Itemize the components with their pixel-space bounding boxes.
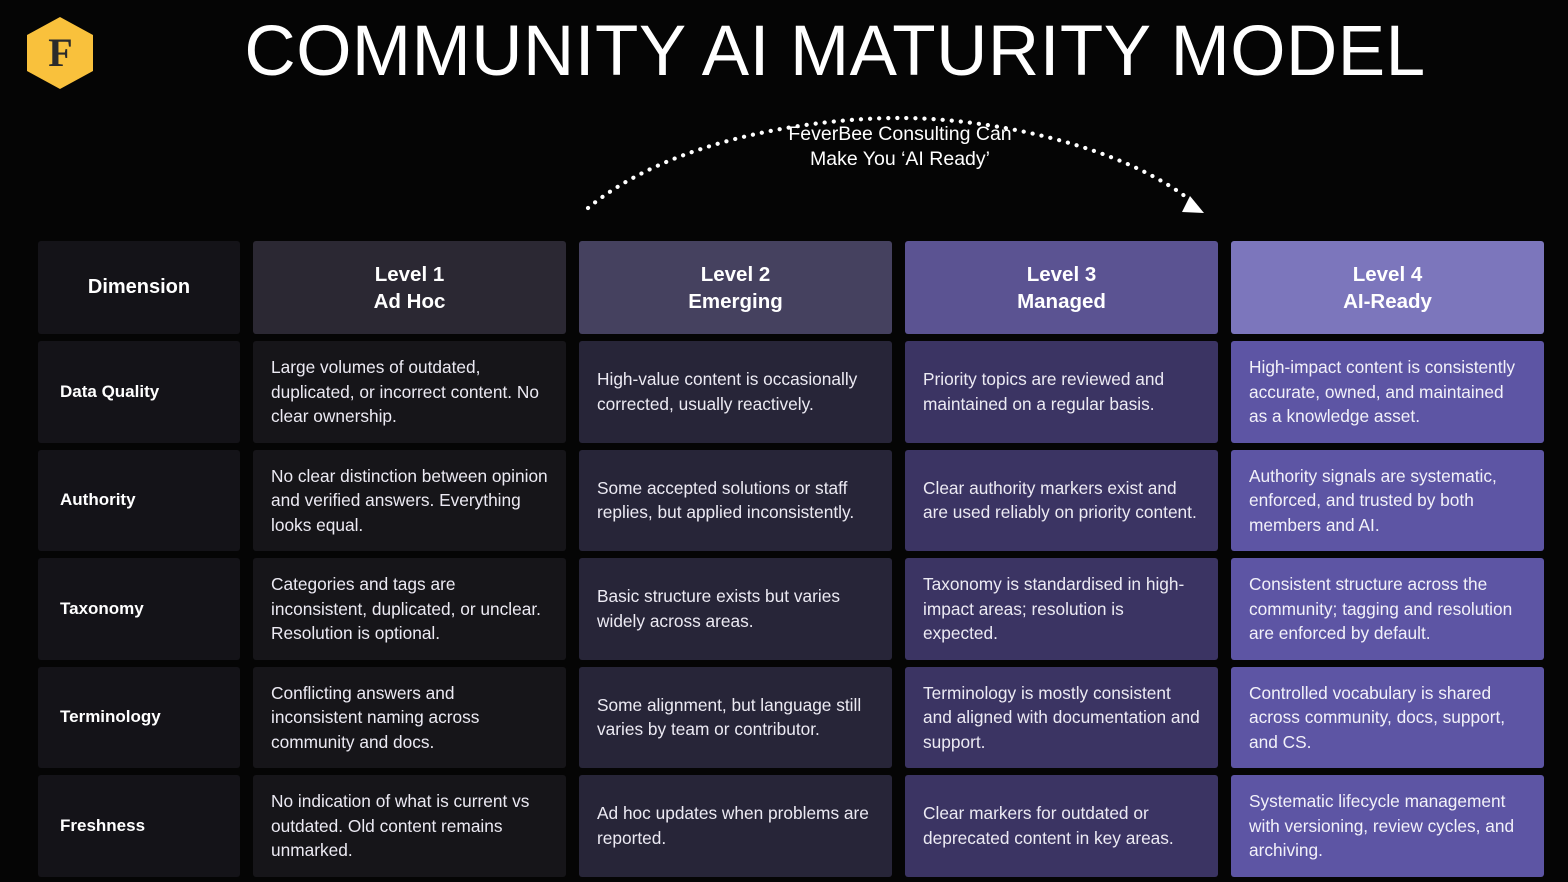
level-3-name: Managed [1017,288,1106,315]
level-1-number: Level 1 [375,261,445,288]
cell-authority-level-4: Authority signals are systematic, enforc… [1231,450,1544,552]
level-2-number: Level 2 [701,261,771,288]
cell-taxonomy-level-1: Categories and tags are inconsistent, du… [253,558,566,660]
cell-freshness-level-4: Systematic lifecycle management with ver… [1231,775,1544,877]
row-label-taxonomy: Taxonomy [38,558,240,660]
table-row: Authority No clear distinction between o… [38,450,1530,552]
cell-data-quality-level-4: High-impact content is consistently accu… [1231,341,1544,443]
row-label-authority: Authority [38,450,240,552]
cell-terminology-level-2: Some alignment, but language still varie… [579,667,892,769]
level-4-name: AI-Ready [1343,288,1432,315]
annotation-line-1: FeverBee Consulting Can [745,122,1055,147]
table-row: Terminology Conflicting answers and inco… [38,667,1530,769]
table-row: Freshness No indication of what is curre… [38,775,1530,877]
row-label-data-quality: Data Quality [38,341,240,443]
cell-taxonomy-level-3: Taxonomy is standardised in high-impact … [905,558,1218,660]
poster-canvas: F COMMUNITY AI MATURITY MODEL FeverBee C… [0,0,1568,882]
maturity-model-table: Dimension Level 1 Ad Hoc Level 2 Emergin… [38,241,1530,877]
cell-authority-level-2: Some accepted solutions or staff replies… [579,450,892,552]
cell-terminology-level-4: Controlled vocabulary is shared across c… [1231,667,1544,769]
row-label-terminology: Terminology [38,667,240,769]
cell-freshness-level-1: No indication of what is current vs outd… [253,775,566,877]
feverbee-logo: F [27,17,93,89]
cell-data-quality-level-2: High-value content is occasionally corre… [579,341,892,443]
page-title: COMMUNITY AI MATURITY MODEL [170,8,1500,96]
logo-letter: F [27,17,93,89]
row-label-freshness: Freshness [38,775,240,877]
level-2-name: Emerging [688,288,783,315]
cell-taxonomy-level-4: Consistent structure across the communit… [1231,558,1544,660]
annotation-callout: FeverBee Consulting Can Make You ‘AI Rea… [580,112,1220,227]
cell-taxonomy-level-2: Basic structure exists but varies widely… [579,558,892,660]
annotation-text: FeverBee Consulting Can Make You ‘AI Rea… [745,122,1055,172]
level-4-number: Level 4 [1353,261,1423,288]
column-header-level-4: Level 4 AI-Ready [1231,241,1544,334]
cell-freshness-level-2: Ad hoc updates when problems are reporte… [579,775,892,877]
cell-data-quality-level-3: Priority topics are reviewed and maintai… [905,341,1218,443]
level-3-number: Level 3 [1027,261,1097,288]
annotation-line-2: Make You ‘AI Ready’ [745,147,1055,172]
column-header-dimension: Dimension [38,241,240,334]
cell-authority-level-1: No clear distinction between opinion and… [253,450,566,552]
page-header: F COMMUNITY AI MATURITY MODEL [0,0,1568,105]
level-1-name: Ad Hoc [374,288,446,315]
table-row: Data Quality Large volumes of outdated, … [38,341,1530,443]
column-header-level-2: Level 2 Emerging [579,241,892,334]
cell-terminology-level-1: Conflicting answers and inconsistent nam… [253,667,566,769]
cell-terminology-level-3: Terminology is mostly consistent and ali… [905,667,1218,769]
table-row: Taxonomy Categories and tags are inconsi… [38,558,1530,660]
column-header-level-3: Level 3 Managed [905,241,1218,334]
cell-data-quality-level-1: Large volumes of outdated, duplicated, o… [253,341,566,443]
table-header-row: Dimension Level 1 Ad Hoc Level 2 Emergin… [38,241,1530,334]
cell-authority-level-3: Clear authority markers exist and are us… [905,450,1218,552]
hexagon-icon: F [27,17,93,89]
column-header-level-1: Level 1 Ad Hoc [253,241,566,334]
cell-freshness-level-3: Clear markers for outdated or deprecated… [905,775,1218,877]
